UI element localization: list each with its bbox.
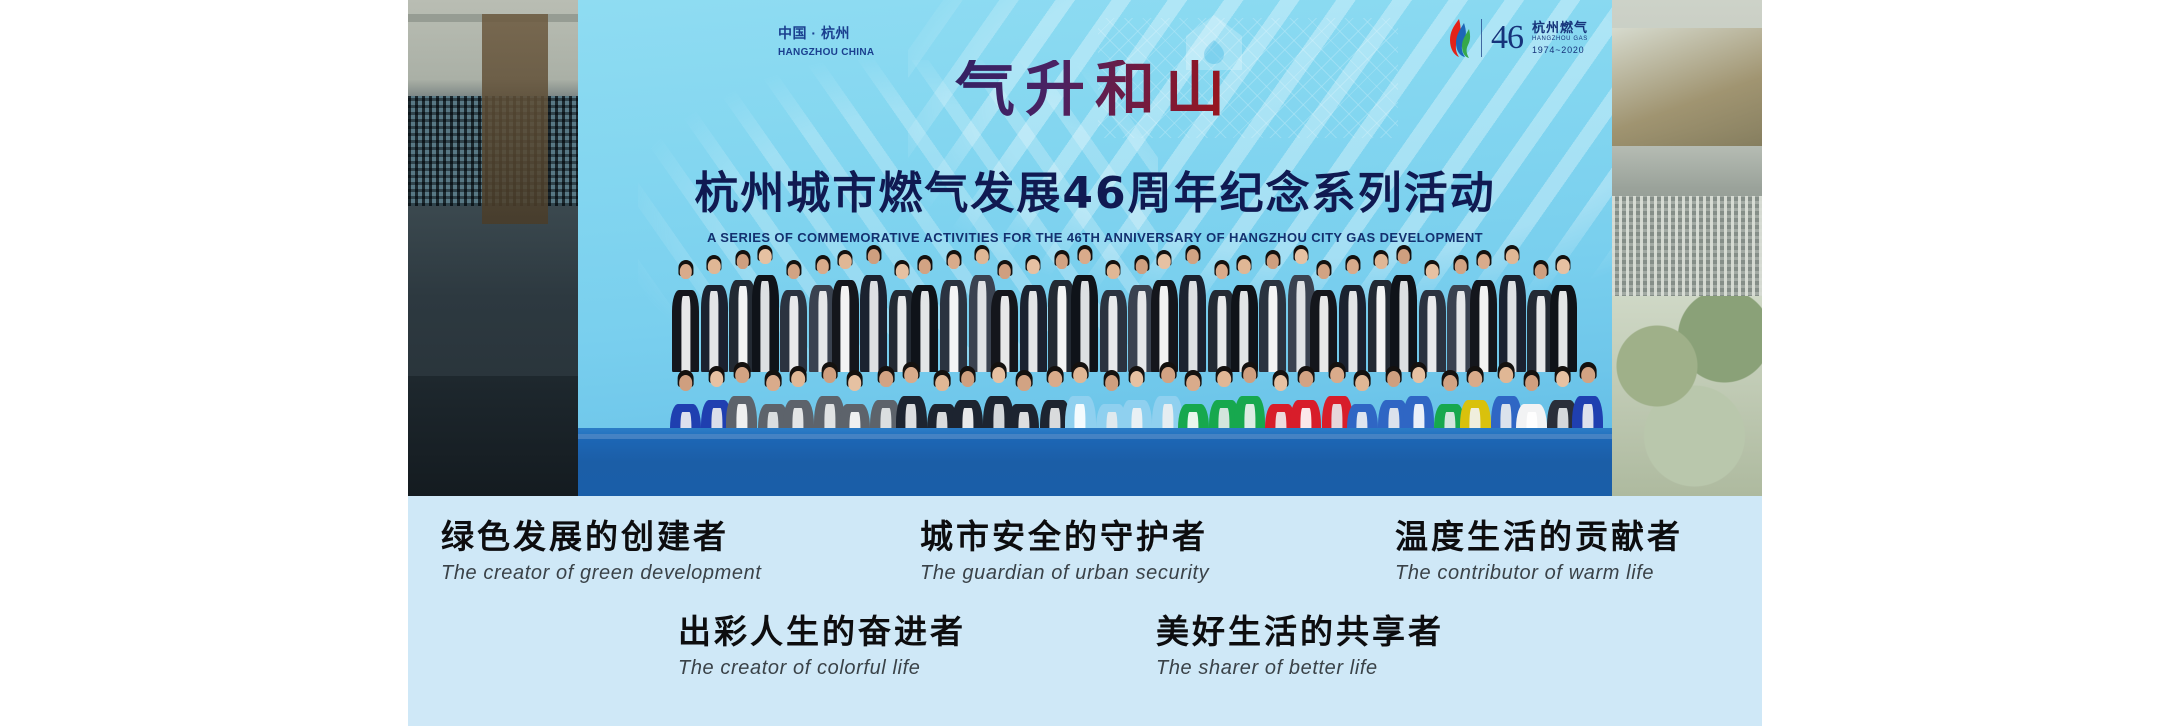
person-head xyxy=(1318,264,1330,279)
person-head xyxy=(736,254,748,269)
stage-carpet xyxy=(578,434,1612,496)
person-head xyxy=(896,264,908,279)
brand-divider xyxy=(1481,19,1482,57)
slogan-cn: 美好生活的共享者 xyxy=(1156,615,1444,650)
person-head xyxy=(1443,375,1457,391)
person-head xyxy=(992,367,1006,383)
person-head xyxy=(1477,254,1489,269)
person-head xyxy=(735,367,749,383)
person-head xyxy=(935,375,949,391)
perforated-panel-right xyxy=(1612,196,1762,302)
person-head xyxy=(947,254,959,269)
person-head xyxy=(961,371,975,387)
slogan-cn: 城市安全的守护者 xyxy=(920,520,1209,555)
person-head xyxy=(879,371,893,387)
person-head xyxy=(1187,249,1199,264)
slogan-item-5: 美好生活的共享者 The sharer of better life xyxy=(1156,615,1444,680)
location-label: 中国 · 杭州 HANGZHOU CHINA xyxy=(778,24,874,59)
person-head xyxy=(1105,375,1119,391)
venue-floor-left xyxy=(408,376,578,496)
group-photo: 中国 · 杭州 HANGZHOU CHINA 46 杭州燃气 HANGZHOU … xyxy=(408,0,1762,496)
crowd-group xyxy=(578,222,1612,496)
anniversary-number: 46 xyxy=(1491,21,1523,55)
person-head xyxy=(1274,375,1288,391)
led-backdrop-screen: 中国 · 杭州 HANGZHOU CHINA 46 杭州燃气 HANGZHOU … xyxy=(578,0,1612,496)
anniversary-years: 1974~2020 xyxy=(1532,45,1588,56)
slogan-cn: 出彩人生的奋进者 xyxy=(678,615,966,650)
person-head xyxy=(1266,254,1278,269)
artistic-wordmark: 气升和山 xyxy=(578,60,1612,120)
slogan-item-1: 绿色发展的创建者 The creator of green developmen… xyxy=(441,520,762,585)
wooden-door xyxy=(482,14,548,224)
person-head xyxy=(1525,375,1539,391)
slogan-en: The contributor of warm life xyxy=(1395,562,1683,585)
person-head xyxy=(679,375,693,391)
slogan-en: The creator of green development xyxy=(441,562,762,585)
person-head xyxy=(976,249,988,264)
glass-railing xyxy=(1612,28,1762,146)
person-head xyxy=(1130,371,1144,387)
slogan-panel: 绿色发展的创建者 The creator of green developmen… xyxy=(408,496,1762,726)
slogan-en: The creator of colorful life xyxy=(678,657,966,680)
person-head xyxy=(1295,249,1307,264)
person-head xyxy=(1556,371,1570,387)
window-foliage xyxy=(1612,296,1762,496)
person-head xyxy=(1186,375,1200,391)
slogan-item-2: 城市安全的守护者 The guardian of urban security xyxy=(920,520,1209,585)
person-head xyxy=(1412,367,1426,383)
person-head xyxy=(1426,264,1438,279)
person-head xyxy=(1534,264,1546,279)
person-head xyxy=(1243,367,1257,383)
person-head xyxy=(1027,259,1039,274)
person-head xyxy=(904,367,918,383)
person-head xyxy=(1056,254,1068,269)
person-head xyxy=(679,264,691,279)
person-head xyxy=(1161,367,1175,383)
person-head xyxy=(1581,367,1595,383)
location-en: HANGZHOU CHINA xyxy=(778,46,874,60)
person-head xyxy=(816,259,828,274)
person-head xyxy=(1238,259,1250,274)
person-head xyxy=(1078,249,1090,264)
person-head xyxy=(1355,375,1369,391)
location-cn: 中国 · 杭州 xyxy=(778,24,874,43)
slogan-item-4: 出彩人生的奋进者 The creator of colorful life xyxy=(678,615,966,680)
venue-left-wall xyxy=(408,0,578,496)
person-head xyxy=(1499,367,1513,383)
brand-words: 杭州燃气 HANGZHOU GAS 1974~2020 xyxy=(1532,20,1588,57)
page-root: 中国 · 杭州 HANGZHOU CHINA 46 杭州燃气 HANGZHOU … xyxy=(0,0,2179,726)
person-head xyxy=(1107,264,1119,279)
person-head xyxy=(919,259,931,274)
company-name-en: HANGZHOU GAS xyxy=(1532,36,1588,44)
person-head xyxy=(766,375,780,391)
person-head xyxy=(1048,371,1062,387)
person-head xyxy=(1387,371,1401,387)
venue-right-wall xyxy=(1612,0,1762,496)
person-head xyxy=(1397,249,1409,264)
person-head xyxy=(839,254,851,269)
person-head xyxy=(708,259,720,274)
person-head xyxy=(710,371,724,387)
person-head xyxy=(1217,371,1231,387)
person-head xyxy=(848,375,862,391)
brand-lockup: 46 杭州燃气 HANGZHOU GAS 1974~2020 xyxy=(1446,18,1588,58)
person-head xyxy=(1455,259,1467,274)
person-head xyxy=(1468,371,1482,387)
event-main-title: 杭州城市燃气发展46周年纪念系列活动 xyxy=(578,172,1612,216)
person-head xyxy=(791,371,805,387)
person-head xyxy=(1330,367,1344,383)
person-head xyxy=(1135,259,1147,274)
slogan-en: The guardian of urban security xyxy=(920,562,1209,585)
slogan-item-3: 温度生活的贡献者 The contributor of warm life xyxy=(1395,520,1683,585)
flame-logo-icon xyxy=(1446,18,1472,58)
person-head xyxy=(1215,264,1227,279)
person-head xyxy=(1017,375,1031,391)
slogan-cn: 绿色发展的创建者 xyxy=(441,520,762,555)
person-head xyxy=(1158,254,1170,269)
person-head xyxy=(823,367,837,383)
person-head xyxy=(1346,259,1358,274)
person-head xyxy=(1299,371,1313,387)
company-name-cn: 杭州燃气 xyxy=(1532,20,1588,36)
content-column: 中国 · 杭州 HANGZHOU CHINA 46 杭州燃气 HANGZHOU … xyxy=(408,0,1762,726)
person-head xyxy=(998,264,1010,279)
person-head xyxy=(788,264,800,279)
person-head xyxy=(1375,254,1387,269)
person-head xyxy=(867,249,879,264)
person-head xyxy=(1073,367,1087,383)
slogan-cn: 温度生活的贡献者 xyxy=(1395,520,1683,555)
person-head xyxy=(1506,249,1518,264)
person-head xyxy=(759,249,771,264)
slogan-en: The sharer of better life xyxy=(1156,657,1444,680)
person-head xyxy=(1557,259,1569,274)
